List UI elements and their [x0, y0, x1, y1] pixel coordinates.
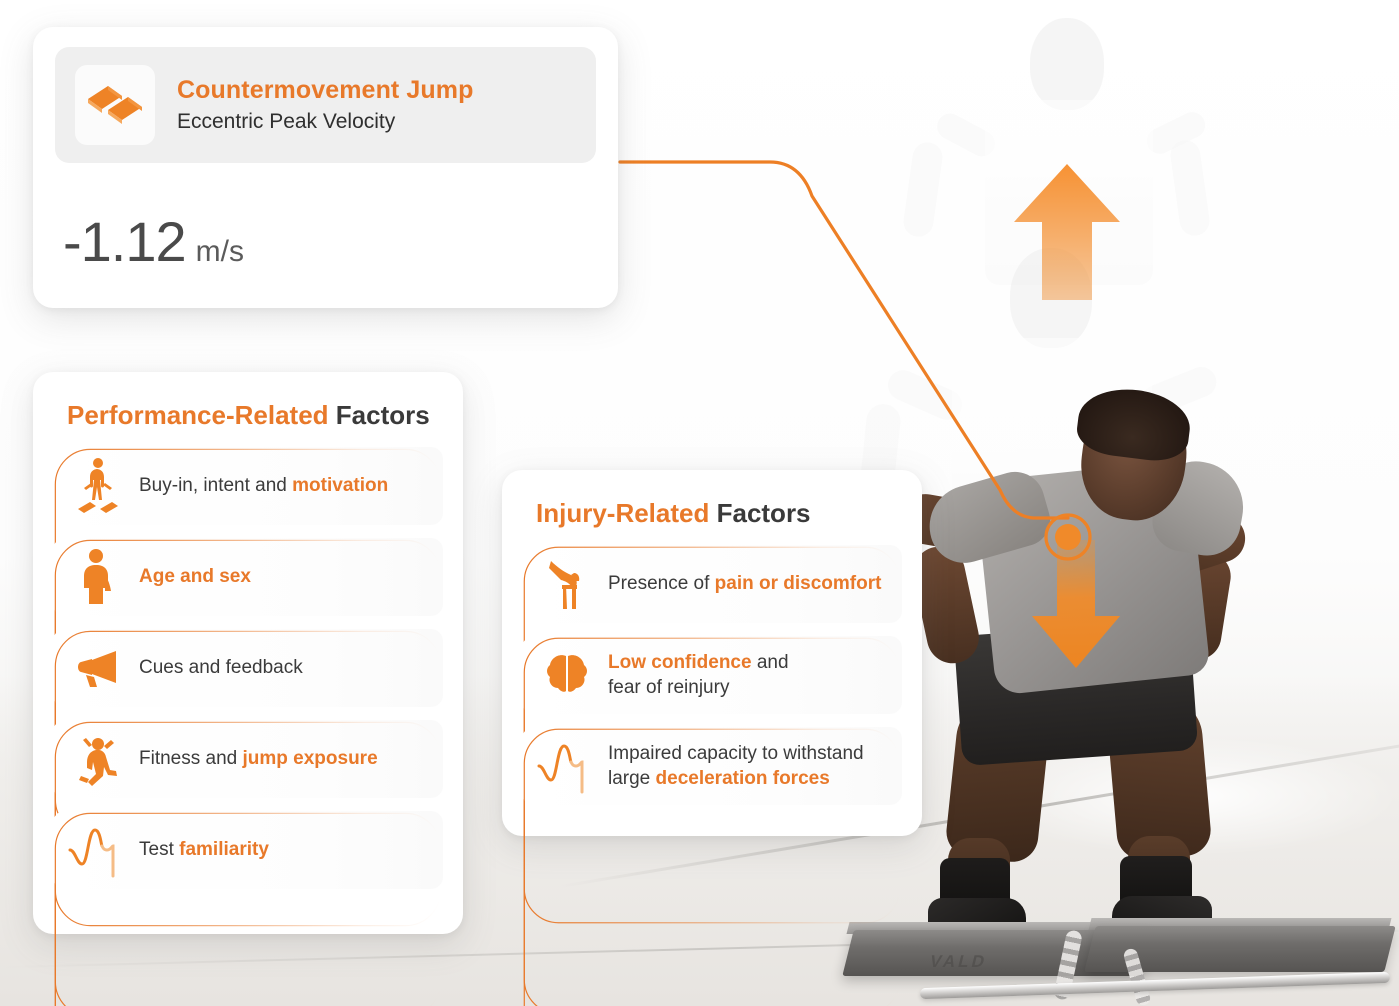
- factor-row[interactable]: Low confidence andfear of reinjury: [522, 636, 902, 714]
- performance-factor-list: Buy-in, intent and motivation Age and se…: [53, 447, 443, 889]
- metric-value-row: -1.12 m/s: [55, 209, 596, 274]
- factor-label: Cues and feedback: [139, 655, 303, 680]
- factor-text-plain: fear of reinjury: [608, 677, 729, 698]
- injury-heading-rest: Factors: [709, 498, 810, 528]
- performance-related-factors-card: Performance-Related Factors Buy-in, inte…: [33, 372, 463, 934]
- factor-text-highlight: Age and sex: [139, 566, 251, 587]
- metric-value: -1.12: [63, 209, 186, 274]
- ghost-athlete-1-forearm-left: [902, 140, 945, 238]
- factor-text-plain: Test: [139, 839, 179, 860]
- down-arrow-indicator: [1030, 540, 1122, 670]
- factor-text-plain: and: [752, 652, 789, 673]
- force-curve-icon: [534, 735, 600, 797]
- knee-joint-icon: [534, 553, 600, 615]
- factor-text-plain: Fitness and: [139, 748, 243, 769]
- factor-row[interactable]: Impaired capacity to withstandlarge dece…: [522, 727, 902, 805]
- factor-label: Presence of pain or discomfort: [608, 571, 881, 596]
- metric-title: Countermovement Jump: [177, 76, 473, 105]
- factor-text-plain: Impaired capacity to withstand: [608, 743, 864, 764]
- factor-row[interactable]: Presence of pain or discomfort: [522, 545, 902, 623]
- ghost-athlete-1-head: [1030, 18, 1104, 110]
- metric-header-panel: Countermovement Jump Eccentric Peak Velo…: [55, 47, 596, 163]
- up-arrow-indicator: [1010, 162, 1124, 302]
- factor-text-plain: large: [608, 768, 656, 789]
- factor-row[interactable]: Test familiarity: [53, 811, 443, 889]
- injury-heading-highlight: Injury-Related: [536, 498, 709, 528]
- male-female-figure-icon: [65, 546, 131, 608]
- factor-label: Fitness and jump exposure: [139, 746, 378, 771]
- megaphone-icon: [65, 637, 131, 699]
- factor-text-highlight: pain or discomfort: [715, 573, 882, 594]
- factor-text-plain: Presence of: [608, 573, 715, 594]
- factor-text-plain: Cues and feedback: [139, 657, 303, 678]
- factor-row[interactable]: Age and sex: [53, 538, 443, 616]
- factor-text-highlight: motivation: [292, 475, 388, 496]
- injury-factor-list: Presence of pain or discomfort Low confi…: [522, 545, 902, 805]
- metric-title-block: Countermovement Jump Eccentric Peak Velo…: [177, 76, 473, 134]
- metric-unit: m/s: [196, 235, 244, 269]
- factor-text-highlight: deceleration forces: [656, 768, 830, 789]
- factor-text-plain: Buy-in, intent and: [139, 475, 292, 496]
- factor-label: Impaired capacity to withstandlarge dece…: [608, 741, 864, 791]
- injury-related-factors-card: Injury-Related Factors Presence of pain …: [502, 470, 922, 836]
- performance-heading-highlight: Performance-Related: [67, 400, 329, 430]
- metric-card[interactable]: Countermovement Jump Eccentric Peak Velo…: [33, 27, 618, 308]
- force-curve-icon: [65, 819, 131, 881]
- vald-brand-mark: VALD: [928, 952, 990, 972]
- factor-label: Age and sex: [139, 564, 251, 589]
- factor-text-highlight: Low confidence: [608, 652, 752, 673]
- brain-icon: [534, 644, 600, 706]
- factor-label: Low confidence andfear of reinjury: [608, 650, 789, 700]
- performance-card-heading: Performance-Related Factors: [67, 400, 443, 431]
- injury-card-heading: Injury-Related Factors: [536, 498, 902, 529]
- force-plates-icon: [86, 82, 144, 128]
- factor-text-highlight: familiarity: [179, 839, 269, 860]
- person-on-plates-icon: [65, 455, 131, 517]
- factor-row[interactable]: Buy-in, intent and motivation: [53, 447, 443, 525]
- factor-label: Test familiarity: [139, 837, 269, 862]
- ghost-athlete-1-forearm-right: [1168, 138, 1211, 237]
- metric-subtitle: Eccentric Peak Velocity: [177, 110, 473, 134]
- force-plates-icon-tile: [75, 65, 155, 145]
- factor-row[interactable]: Cues and feedback: [53, 629, 443, 707]
- factor-row[interactable]: Fitness and jump exposure: [53, 720, 443, 798]
- factor-label: Buy-in, intent and motivation: [139, 473, 388, 498]
- factor-text-highlight: jump exposure: [243, 748, 378, 769]
- performance-heading-rest: Factors: [329, 400, 430, 430]
- infographic-stage: VALD: [0, 0, 1399, 1006]
- jumping-person-icon: [65, 728, 131, 790]
